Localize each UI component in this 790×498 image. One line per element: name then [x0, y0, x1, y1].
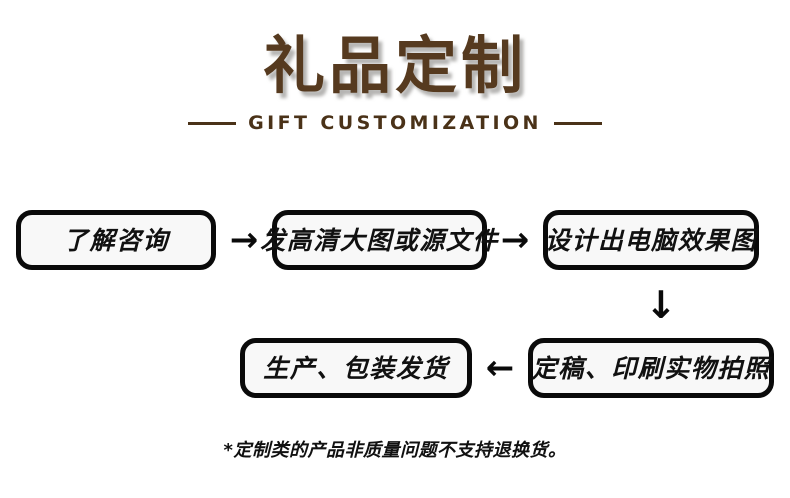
arrow-left-icon: ← [472, 351, 528, 385]
flow-row-top: 了解咨询 → 发高清大图或源文件 → 设计出电脑效果图 [0, 205, 790, 275]
flow-node-send-files[interactable]: 发高清大图或源文件 [272, 210, 487, 270]
page-title: 礼品定制 [0, 30, 790, 102]
arrow-right-icon-2: → [487, 223, 543, 257]
subtitle-rule-right [554, 122, 602, 125]
flow-node-production-shipping[interactable]: 生产、包装发货 [240, 338, 472, 398]
flow-row-bottom: 生产、包装发货 ← 定稿、印刷实物拍照 [0, 335, 790, 401]
flow-node-inquiry-label: 了解咨询 [63, 228, 169, 253]
flow-node-finalize-print[interactable]: 定稿、印刷实物拍照 [528, 338, 774, 398]
header-banner: 礼品定制 GIFT CUSTOMIZATION [0, 0, 790, 160]
subtitle-rule-left [188, 122, 236, 125]
subtitle-row: GIFT CUSTOMIZATION [0, 112, 790, 134]
flow-node-production-shipping-label: 生产、包装发货 [263, 356, 449, 381]
subtitle-text: GIFT CUSTOMIZATION [248, 112, 542, 134]
flow-node-send-files-label: 发高清大图或源文件 [260, 228, 499, 253]
flow-node-finalize-print-label: 定稿、印刷实物拍照 [532, 356, 771, 381]
flow-node-design-mockup-label: 设计出电脑效果图 [545, 228, 757, 253]
flow-node-design-mockup[interactable]: 设计出电脑效果图 [543, 210, 759, 270]
process-flowchart: 了解咨询 → 发高清大图或源文件 → 设计出电脑效果图 ↓ 生产、包装发货 ← … [0, 160, 790, 430]
arrow-down-icon: ↓ [641, 277, 681, 333]
return-policy-note: *定制类的产品非质量问题不支持退换货。 [0, 436, 790, 462]
flow-node-inquiry[interactable]: 了解咨询 [16, 210, 216, 270]
